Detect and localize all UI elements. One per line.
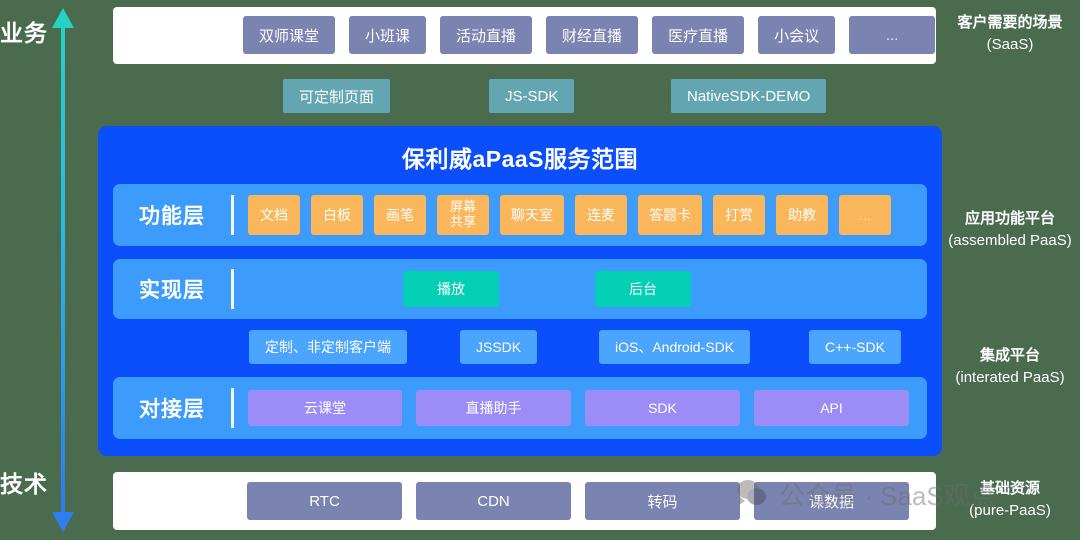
- side-label-pure-title: 基础资源: [940, 478, 1080, 500]
- scene-chip[interactable]: 财经直播: [546, 16, 638, 54]
- implementation-layer-label: 实现层: [113, 274, 231, 304]
- docking-chip-sdk[interactable]: SDK: [585, 390, 740, 426]
- implementation-chip-backend[interactable]: 后台: [595, 271, 691, 307]
- scene-chip[interactable]: 医疗直播: [652, 16, 744, 54]
- panel-title: 保利威aPaaS服务范围: [98, 140, 942, 174]
- infrastructure-card: RTC CDN 转码 课数据: [113, 472, 936, 530]
- implementation-layer-row: 实现层 播放 后台: [113, 259, 927, 319]
- function-chip[interactable]: 白板: [311, 195, 363, 235]
- connector-js-sdk[interactable]: JS-SDK: [489, 79, 574, 113]
- infra-chip-lesson-data[interactable]: 课数据: [754, 482, 909, 520]
- divider: [231, 269, 234, 309]
- function-chip[interactable]: 答题卡: [638, 195, 702, 235]
- connector-nativesdk-demo[interactable]: NativeSDK-DEMO: [671, 79, 826, 113]
- function-chip-screen-share[interactable]: 屏幕 共享: [437, 195, 489, 235]
- function-chip[interactable]: 文档: [248, 195, 300, 235]
- side-label-assembled-title: 应用功能平台: [940, 208, 1080, 230]
- scene-chip-more[interactable]: ...: [849, 16, 935, 54]
- function-chip[interactable]: 打赏: [713, 195, 765, 235]
- sdk-chip-jssdk[interactable]: JSSDK: [460, 330, 537, 364]
- scenes-row: 双师课堂 小班课 活动直播 财经直播 医疗直播 小会议 ...: [243, 16, 935, 54]
- side-label-integrated-paas: 集成平台 (interated PaaS): [940, 345, 1080, 389]
- infra-chip-rtc[interactable]: RTC: [247, 482, 402, 520]
- axis-label-business: 业务: [0, 14, 48, 48]
- side-label-saas-title: 客户需要的场景: [940, 12, 1080, 34]
- function-layer-label: 功能层: [113, 200, 231, 230]
- screen-share-line2: 共享: [450, 215, 476, 230]
- docking-chip-live-assistant[interactable]: 直播助手: [416, 390, 571, 426]
- screen-share-line1: 屏幕: [450, 200, 476, 215]
- function-chip[interactable]: 连麦: [575, 195, 627, 235]
- divider: [231, 195, 234, 235]
- side-label-pure-paas: 基础资源 (pure-PaaS): [940, 478, 1080, 522]
- docking-chip-cloud-classroom[interactable]: 云课堂: [248, 390, 402, 426]
- side-label-assembled-sub: (assembled PaaS): [940, 230, 1080, 252]
- axis-label-technology: 技术: [0, 465, 48, 499]
- scene-chip[interactable]: 小班课: [349, 16, 426, 54]
- implementation-chip-playback[interactable]: 播放: [403, 271, 499, 307]
- side-label-integrated-title: 集成平台: [940, 345, 1080, 367]
- connector-customizable-page[interactable]: 可定制页面: [283, 79, 390, 113]
- scene-chip[interactable]: 双师课堂: [243, 16, 335, 54]
- sdk-chip-ios-android[interactable]: iOS、Android-SDK: [599, 330, 750, 364]
- function-chip[interactable]: 聊天室: [500, 195, 564, 235]
- docking-layer-row: 对接层 云课堂 直播助手 SDK API: [113, 377, 927, 439]
- apaas-service-panel: 保利威aPaaS服务范围 功能层 文档 白板 画笔 屏幕 共享 聊天室 连麦 答…: [98, 126, 942, 456]
- sdk-chip-cpp[interactable]: C++-SDK: [809, 330, 901, 364]
- side-label-integrated-sub: (interated PaaS): [940, 367, 1080, 389]
- scene-chip[interactable]: 小会议: [758, 16, 835, 54]
- sdk-chip-client[interactable]: 定制、非定制客户端: [249, 330, 407, 364]
- arrow-down-icon: [52, 512, 74, 532]
- side-label-saas-sub: (SaaS): [940, 34, 1080, 56]
- infra-chip-cdn[interactable]: CDN: [416, 482, 571, 520]
- side-label-assembled-paas: 应用功能平台 (assembled PaaS): [940, 208, 1080, 252]
- scene-chip[interactable]: 活动直播: [440, 16, 532, 54]
- axis-line: [61, 22, 65, 518]
- infrastructure-row: RTC CDN 转码 课数据: [247, 482, 923, 520]
- function-chip-more[interactable]: ...: [839, 195, 891, 235]
- infra-chip-transcode[interactable]: 转码: [585, 482, 740, 520]
- scenes-card: 双师课堂 小班课 活动直播 财经直播 医疗直播 小会议 ...: [113, 7, 936, 64]
- function-layer-row: 功能层 文档 白板 画笔 屏幕 共享 聊天室 连麦 答题卡 打赏 助教 ...: [113, 184, 927, 246]
- side-label-saas: 客户需要的场景 (SaaS): [940, 12, 1080, 56]
- vertical-axis: [52, 8, 74, 532]
- docking-chip-api[interactable]: API: [754, 390, 909, 426]
- function-chip[interactable]: 助教: [776, 195, 828, 235]
- docking-layer-label: 对接层: [113, 393, 231, 423]
- diagram-canvas: 业务 技术 客户需要的场景 (SaaS) 应用功能平台 (assembled P…: [0, 0, 1080, 540]
- side-label-pure-sub: (pure-PaaS): [940, 500, 1080, 522]
- divider: [231, 388, 234, 428]
- function-chip[interactable]: 画笔: [374, 195, 426, 235]
